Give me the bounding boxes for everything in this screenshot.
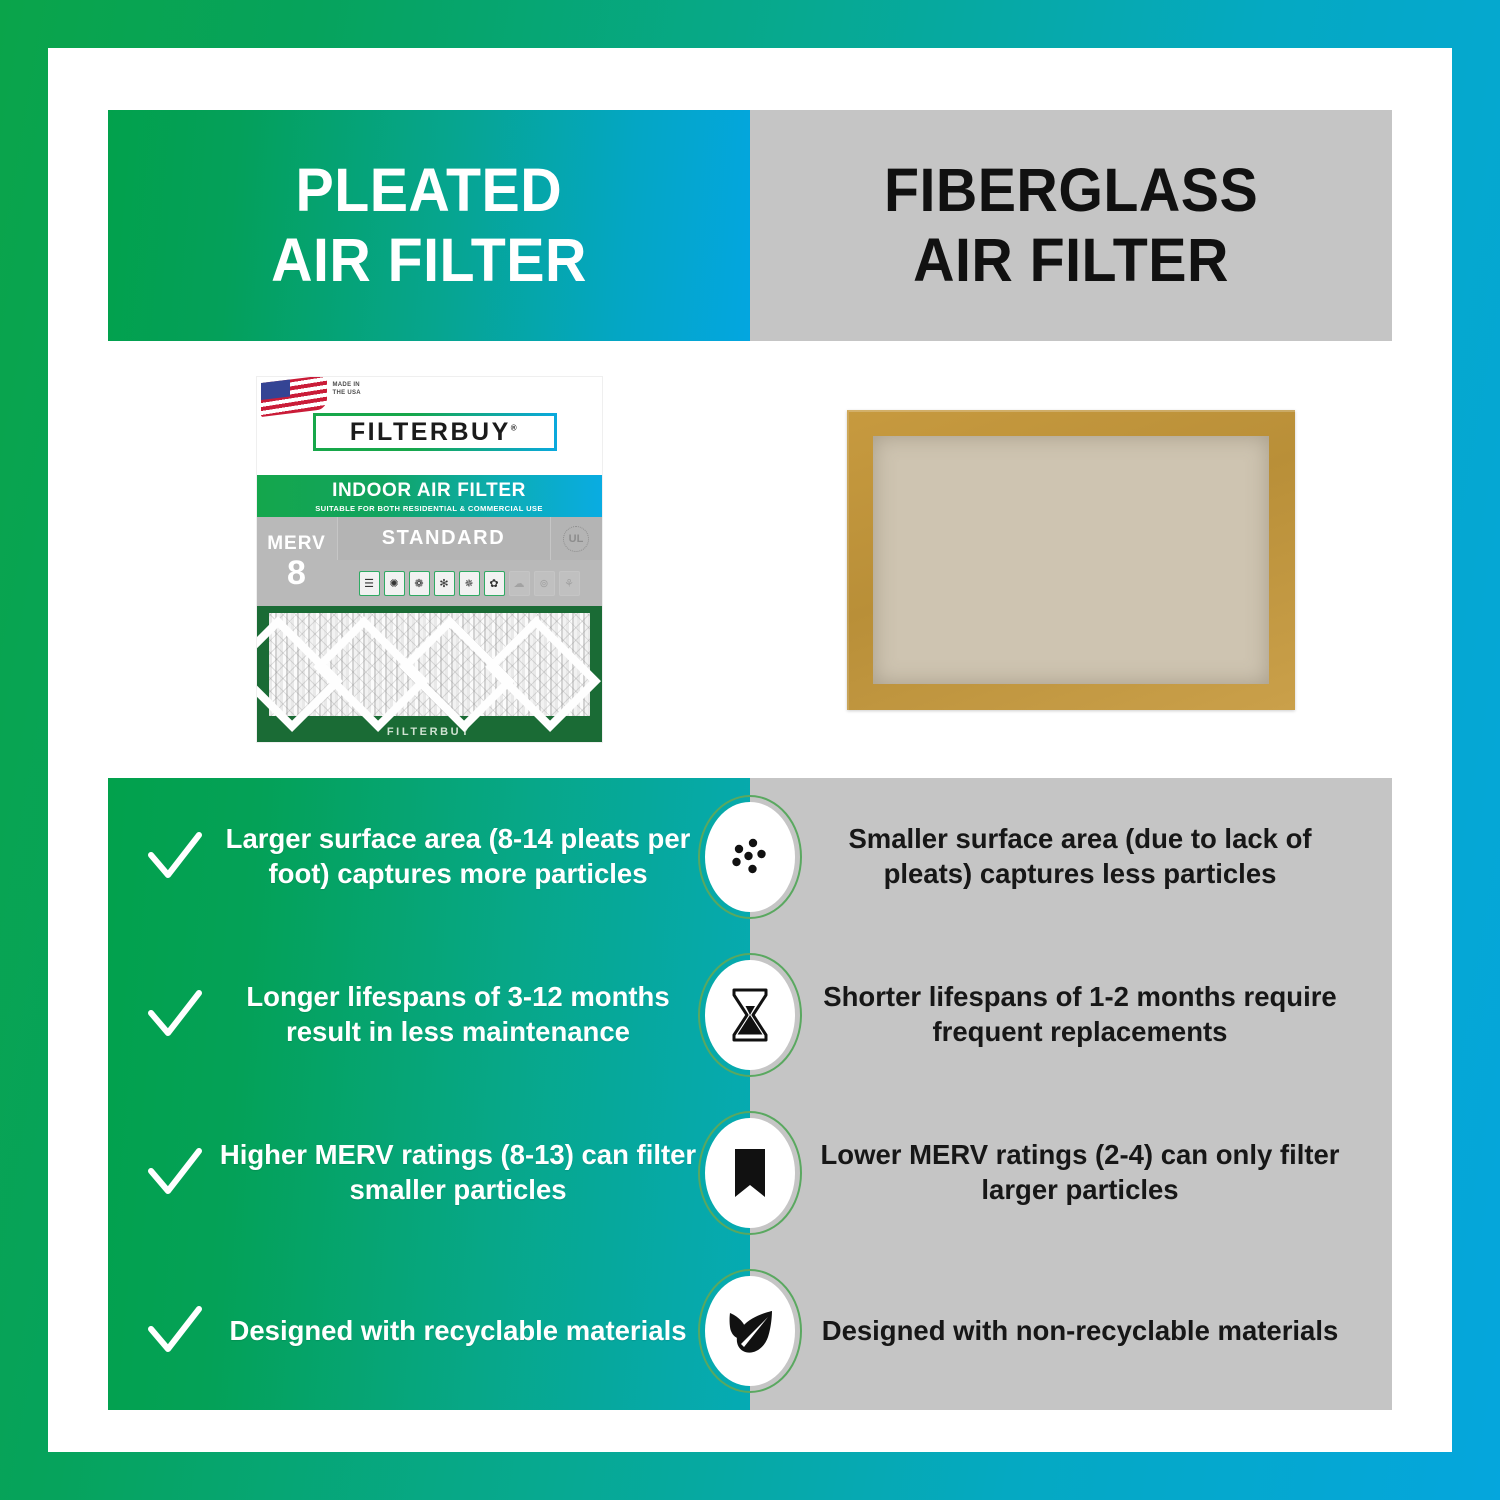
trademark-symbol: ® bbox=[511, 423, 519, 432]
checkmark-icon bbox=[138, 989, 212, 1041]
ul-certification-badge: UL bbox=[550, 517, 602, 560]
ul-mark-icon: UL bbox=[563, 526, 589, 552]
checkmark-icon bbox=[138, 831, 212, 883]
header-panel-fiberglass: FIBERGLASS AIR FILTER bbox=[750, 110, 1392, 341]
infographic-page: PLEATED AIR FILTER FIBERGLASS AIR FILTER… bbox=[48, 48, 1452, 1452]
comparison-section: Larger surface area (8-14 pleats per foo… bbox=[108, 778, 1392, 1410]
fiberglass-drawback-text: Smaller surface area (due to lack of ple… bbox=[812, 822, 1348, 891]
cardboard-frame-highlight bbox=[847, 410, 1295, 710]
made-in-usa-text: MADE IN THE USA bbox=[333, 381, 361, 397]
outer-gradient-frame: PLEATED AIR FILTER FIBERGLASS AIR FILTER… bbox=[0, 0, 1500, 1500]
comparison-row: Shorter lifespans of 1-2 months require … bbox=[750, 936, 1392, 1094]
comparison-column-pleated: Larger surface area (8-14 pleats per foo… bbox=[108, 778, 750, 1410]
comparison-column-fiberglass: Smaller surface area (due to lack of ple… bbox=[750, 778, 1392, 1410]
box-top-white-area: MADE IN THE USA FILTERBUY® bbox=[257, 377, 602, 475]
pleated-media-area: FILTERBUY bbox=[257, 606, 602, 742]
brand-word: FILTERBUY bbox=[350, 418, 511, 446]
bacteria-dim-icon: ⊚ bbox=[534, 571, 555, 596]
smoke-icon: ☁ bbox=[509, 571, 530, 596]
band-title: INDOOR AIR FILTER bbox=[332, 480, 526, 502]
header-pleated-line2: AIR FILTER bbox=[271, 226, 587, 296]
filterbuy-logo-frame: FILTERBUY® bbox=[313, 413, 557, 451]
fiberglass-drawback-text: Lower MERV ratings (2-4) can only filter… bbox=[812, 1138, 1348, 1207]
fiberglass-drawback-text: Shorter lifespans of 1-2 months require … bbox=[812, 980, 1348, 1049]
grade-label: STANDARD bbox=[338, 527, 550, 550]
merv-value: 8 bbox=[287, 556, 306, 590]
pleated-benefit-text: Larger surface area (8-14 pleats per foo… bbox=[212, 822, 704, 891]
pleated-product-cell: MADE IN THE USA FILTERBUY® INDOOR AIR FI… bbox=[108, 341, 750, 778]
header-panel-pleated: PLEATED AIR FILTER bbox=[108, 110, 750, 341]
product-image-row: MADE IN THE USA FILTERBUY® INDOOR AIR FI… bbox=[108, 341, 1392, 778]
header-row: PLEATED AIR FILTER FIBERGLASS AIR FILTER bbox=[108, 110, 1392, 341]
grade-row: STANDARD UL bbox=[337, 517, 602, 560]
header-fiberglass-line1: FIBERGLASS bbox=[884, 156, 1258, 226]
comparison-row: Longer lifespans of 3-12 months result i… bbox=[108, 936, 750, 1094]
usa-flag-icon bbox=[261, 377, 327, 417]
filtration-feature-icons: ☰ ✺ ❁ ✻ ✵ ✿ ☁ ⊚ ⚘ bbox=[337, 560, 602, 606]
filterbuy-logo-text: FILTERBUY® bbox=[350, 418, 519, 447]
header-fiberglass-line2: AIR FILTER bbox=[913, 226, 1229, 296]
merv-label: MERV bbox=[267, 533, 326, 555]
merv-rating-block: MERV 8 bbox=[257, 517, 337, 606]
virus-dim-icon: ⚘ bbox=[559, 571, 580, 596]
comparison-row: Designed with recyclable materials bbox=[108, 1252, 750, 1410]
comparison-row: Designed with non-recyclable materials bbox=[750, 1252, 1392, 1410]
comparison-row: Higher MERV ratings (8-13) can filter sm… bbox=[108, 1094, 750, 1252]
comparison-row: Smaller surface area (due to lack of ple… bbox=[750, 778, 1392, 936]
header-pleated-line1: PLEATED bbox=[296, 156, 563, 226]
made-in-line1: MADE IN bbox=[333, 381, 361, 389]
lint-icon: ✵ bbox=[459, 571, 480, 596]
merv-info-panel: MERV 8 STANDARD UL ☰ ✺ ❁ bbox=[257, 517, 602, 606]
comparison-row: Larger surface area (8-14 pleats per foo… bbox=[108, 778, 750, 936]
fiberglass-filter-image bbox=[847, 410, 1295, 710]
indoor-air-filter-band: INDOOR AIR FILTER SUITABLE FOR BOTH RESI… bbox=[257, 475, 602, 517]
mold-icon: ✻ bbox=[434, 571, 455, 596]
pleated-benefit-text: Higher MERV ratings (8-13) can filter sm… bbox=[212, 1138, 704, 1207]
bacteria-icon: ✺ bbox=[384, 571, 405, 596]
made-in-line2: THE USA bbox=[333, 389, 361, 397]
pleated-benefit-text: Designed with recyclable materials bbox=[212, 1314, 704, 1349]
pet-dander-icon: ✿ bbox=[484, 571, 505, 596]
checkmark-icon bbox=[138, 1305, 212, 1357]
pleated-benefit-text: Longer lifespans of 3-12 months result i… bbox=[212, 980, 704, 1049]
dust-mite-icon: ☰ bbox=[359, 571, 380, 596]
fiberglass-drawback-text: Designed with non-recyclable materials bbox=[812, 1314, 1348, 1349]
band-subtitle: SUITABLE FOR BOTH RESIDENTIAL & COMMERCI… bbox=[315, 504, 542, 513]
checkmark-icon bbox=[138, 1147, 212, 1199]
comparison-row: Lower MERV ratings (2-4) can only filter… bbox=[750, 1094, 1392, 1252]
pollen-icon: ❁ bbox=[409, 571, 430, 596]
fiberglass-product-cell bbox=[750, 341, 1392, 778]
pleated-filter-box-image: MADE IN THE USA FILTERBUY® INDOOR AIR FI… bbox=[257, 377, 602, 742]
